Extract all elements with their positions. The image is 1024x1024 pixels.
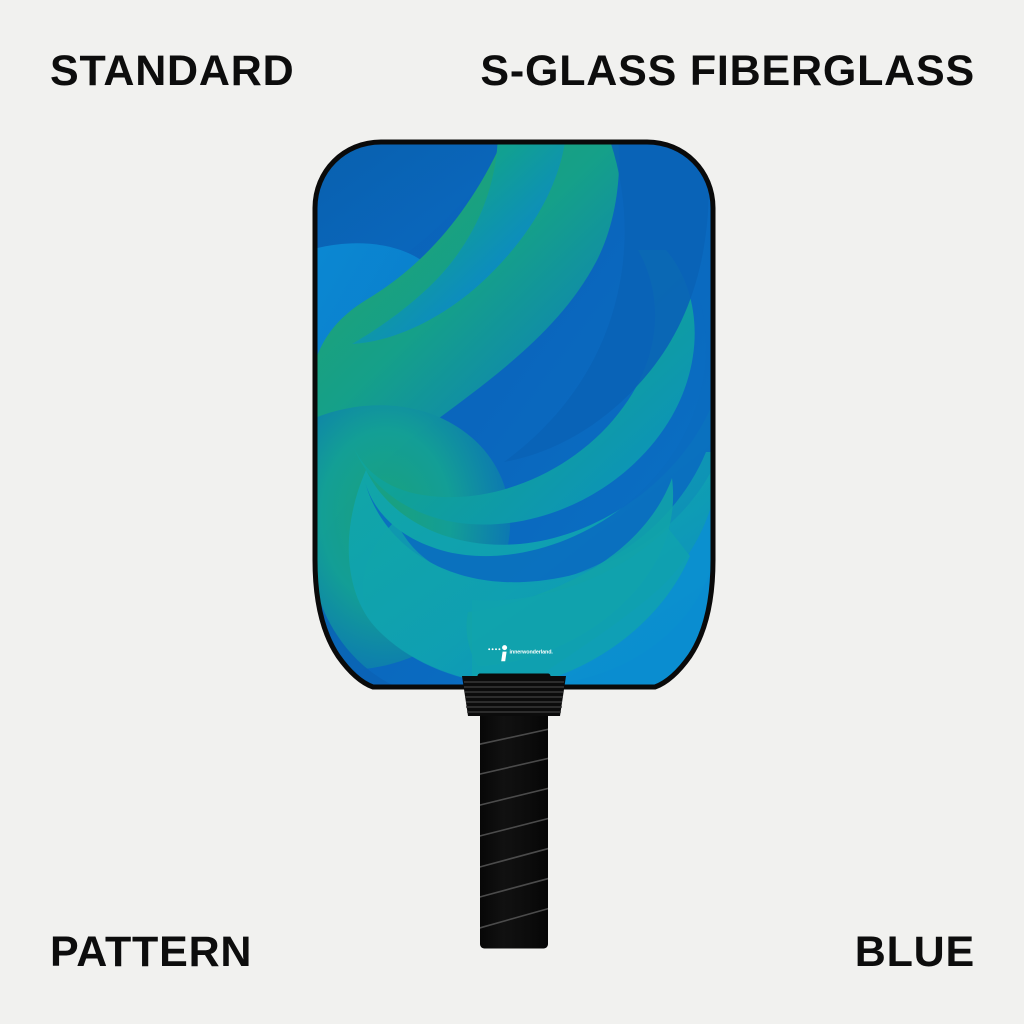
product-card-canvas: STANDARD S-GLASS FIBERGLASS PATTERN BLUE — [0, 0, 1024, 1024]
throat-stripe-lines — [464, 682, 564, 712]
face-pattern-artwork — [310, 135, 724, 695]
throat-grip-stripes — [462, 676, 566, 716]
paddle-illustration — [0, 0, 1024, 1024]
paddle-svg — [0, 0, 1024, 1024]
paddle-face — [310, 135, 724, 695]
